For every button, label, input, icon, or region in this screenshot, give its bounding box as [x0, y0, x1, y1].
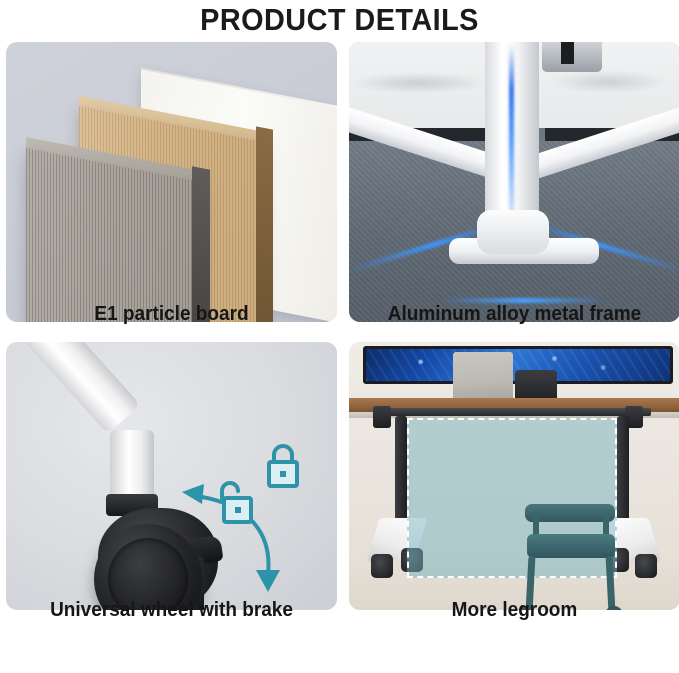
- laptop: [453, 352, 513, 400]
- grey-board-side-edge: [192, 166, 210, 322]
- caption-particle-board: E1 particle board: [14, 303, 328, 326]
- aluminum-frame-image: [349, 42, 679, 322]
- detail-cell-aluminum-frame: Aluminum alloy metal frame: [349, 42, 679, 324]
- chair-seat: [527, 534, 615, 558]
- legroom-highlight-area: [407, 418, 617, 578]
- oak-board-side-edge: [256, 126, 273, 322]
- detail-cell-particle-board: E1 particle board: [6, 42, 337, 324]
- page-title: PRODUCT DETAILS: [24, 2, 655, 38]
- details-grid: E1 particle board: [6, 42, 673, 668]
- caption-aluminum-frame: Aluminum alloy metal frame: [357, 303, 671, 326]
- caption-more-legroom: More legroom: [357, 599, 671, 622]
- frame-joint-hub: [477, 210, 549, 254]
- detail-cell-universal-wheel: Universal wheel with brake: [6, 342, 337, 624]
- table-leg-upper: [14, 342, 140, 434]
- universal-wheel-image: [6, 342, 337, 610]
- desk-leg-left: [395, 416, 407, 522]
- desk-leg-right: [617, 416, 629, 522]
- desk-bracket-left: [373, 406, 391, 428]
- wall-shadow-left: [349, 72, 489, 94]
- detail-cell-more-legroom: More legroom: [349, 342, 679, 624]
- particle-board-image: [6, 42, 337, 322]
- desk-caster-4: [635, 554, 657, 578]
- unlock-icon: [210, 478, 256, 526]
- frame-column-glow: [509, 46, 514, 222]
- product-details-infographic: PRODUCT DETAILS E1 particle board: [0, 0, 679, 673]
- frame-mount-slot: [561, 42, 574, 64]
- desk-support-rail: [379, 408, 651, 416]
- wall-shadow-right: [549, 70, 669, 94]
- desk-caster-1: [371, 554, 393, 578]
- more-legroom-image: [349, 342, 679, 610]
- lock-icon: [264, 442, 306, 490]
- caption-universal-wheel: Universal wheel with brake: [14, 599, 328, 622]
- desk-accessory: [515, 370, 557, 400]
